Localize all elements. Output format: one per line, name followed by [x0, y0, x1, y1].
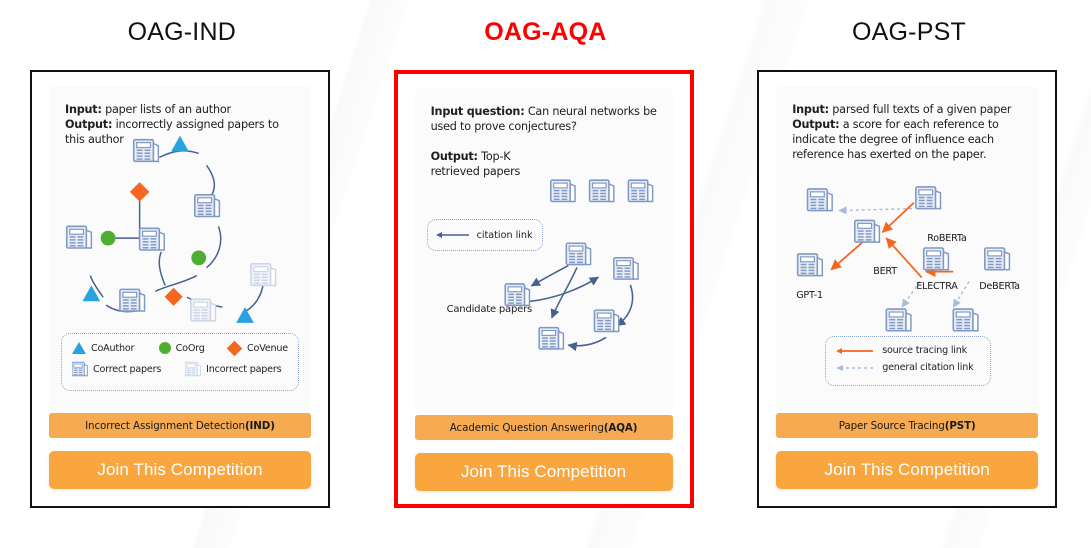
caption-candidate-papers: Candidate papers — [447, 304, 532, 315]
competition-panels: OAG-IND Input: paper lists of an authorO… — [0, 0, 1091, 548]
paper-node — [140, 228, 165, 250]
paper-node-bert — [855, 220, 880, 242]
co-org-marker — [191, 250, 206, 265]
co-venue-marker — [130, 182, 150, 202]
legend-label-incorrect: Incorrect papers — [206, 364, 281, 375]
dashed-arrow-icon — [836, 363, 874, 373]
card-oag-pst: Input: parsed full texts of a given pape… — [757, 70, 1057, 508]
paper-node — [195, 195, 220, 217]
circle-icon — [159, 342, 171, 354]
legend-ind: CoAuthor CoOrg CoVenue Correct — [61, 333, 299, 391]
solid-arrow-icon — [836, 346, 874, 356]
paper-icon — [72, 361, 88, 377]
legend-label-source-tracing: source tracing link — [882, 345, 967, 356]
output-paper — [550, 180, 574, 201]
card-inner-oag-ind: Input: paper lists of an authorOutput: i… — [49, 86, 311, 411]
candidate-paper — [566, 243, 590, 264]
legend-pst: source tracing link general citation lin… — [825, 336, 991, 386]
panel-oag-aqa: OAG-AQA Input question: Can neural netwo… — [364, 0, 728, 548]
node-label-gpt1: GPT-1 — [796, 290, 823, 301]
panel-title-oag-aqa: OAG-AQA — [364, 18, 728, 47]
paper-node — [808, 189, 833, 211]
co-org-marker — [101, 231, 116, 246]
paper-node — [120, 289, 145, 311]
co-author-marker — [236, 307, 254, 323]
panel-title-oag-ind: OAG-IND — [0, 18, 364, 47]
join-competition-button-ind[interactable]: Join This Competition — [49, 451, 311, 489]
paper-node-electra — [924, 248, 949, 270]
co-author-marker — [171, 136, 189, 152]
node-label-bert: BERT — [873, 266, 897, 277]
card-oag-ind: Input: paper lists of an authorOutput: i… — [30, 70, 330, 508]
legend-label-covenue: CoVenue — [247, 343, 288, 354]
node-label-electra: ELECTRA — [916, 281, 957, 292]
legend-label-coauthor: CoAuthor — [91, 343, 134, 354]
legend-label-coorg: CoOrg — [176, 343, 205, 354]
legend-label-general-citation: general citation link — [882, 362, 973, 373]
node-label-deberta: DeBERTa — [979, 281, 1020, 292]
output-paper — [628, 180, 652, 201]
card-inner-oag-aqa: Input question: Can neural networks be u… — [415, 88, 673, 413]
task-bar-pst: Paper Source Tracing (PST) — [776, 413, 1038, 438]
panel-oag-ind: OAG-IND Input: paper lists of an authorO… — [0, 0, 364, 548]
panel-oag-pst: OAG-PST Input: parsed full texts of a gi… — [727, 0, 1091, 548]
task-bar-ind: Incorrect Assignment Detection (IND) — [49, 413, 311, 438]
join-competition-button-pst[interactable]: Join This Competition — [776, 451, 1038, 489]
paper-node — [67, 226, 92, 248]
card-inner-oag-pst: Input: parsed full texts of a given pape… — [776, 86, 1038, 411]
candidate-paper — [594, 310, 618, 331]
node-label-roberta: RoBERTa — [927, 233, 966, 244]
legend-label-citation-link: citation link — [477, 230, 533, 241]
output-paper — [589, 180, 613, 201]
paper-node — [887, 309, 912, 331]
diamond-icon — [227, 340, 243, 356]
paper-node-deberta — [985, 248, 1010, 270]
candidate-paper — [505, 284, 529, 305]
paper-node-gpt1 — [798, 254, 823, 276]
candidate-paper — [539, 328, 563, 349]
paper-node — [953, 309, 978, 331]
paper-node-incorrect — [191, 299, 216, 321]
task-bar-aqa: Academic Question Answering (AQA) — [415, 415, 673, 440]
join-competition-button-aqa[interactable]: Join This Competition — [415, 453, 673, 491]
paper-node-roberta — [916, 187, 941, 209]
paper-faded-icon — [185, 361, 201, 377]
co-venue-marker — [165, 288, 183, 306]
triangle-icon — [72, 342, 86, 354]
paper-node-incorrect — [251, 264, 276, 286]
panel-title-oag-pst: OAG-PST — [727, 18, 1091, 47]
candidate-paper — [613, 258, 637, 279]
legend-aqa: citation link — [427, 219, 543, 251]
legend-label-correct: Correct papers — [93, 364, 161, 375]
paper-node — [134, 140, 159, 162]
card-oag-aqa: Input question: Can neural networks be u… — [394, 70, 694, 508]
arrow-icon — [436, 230, 470, 240]
